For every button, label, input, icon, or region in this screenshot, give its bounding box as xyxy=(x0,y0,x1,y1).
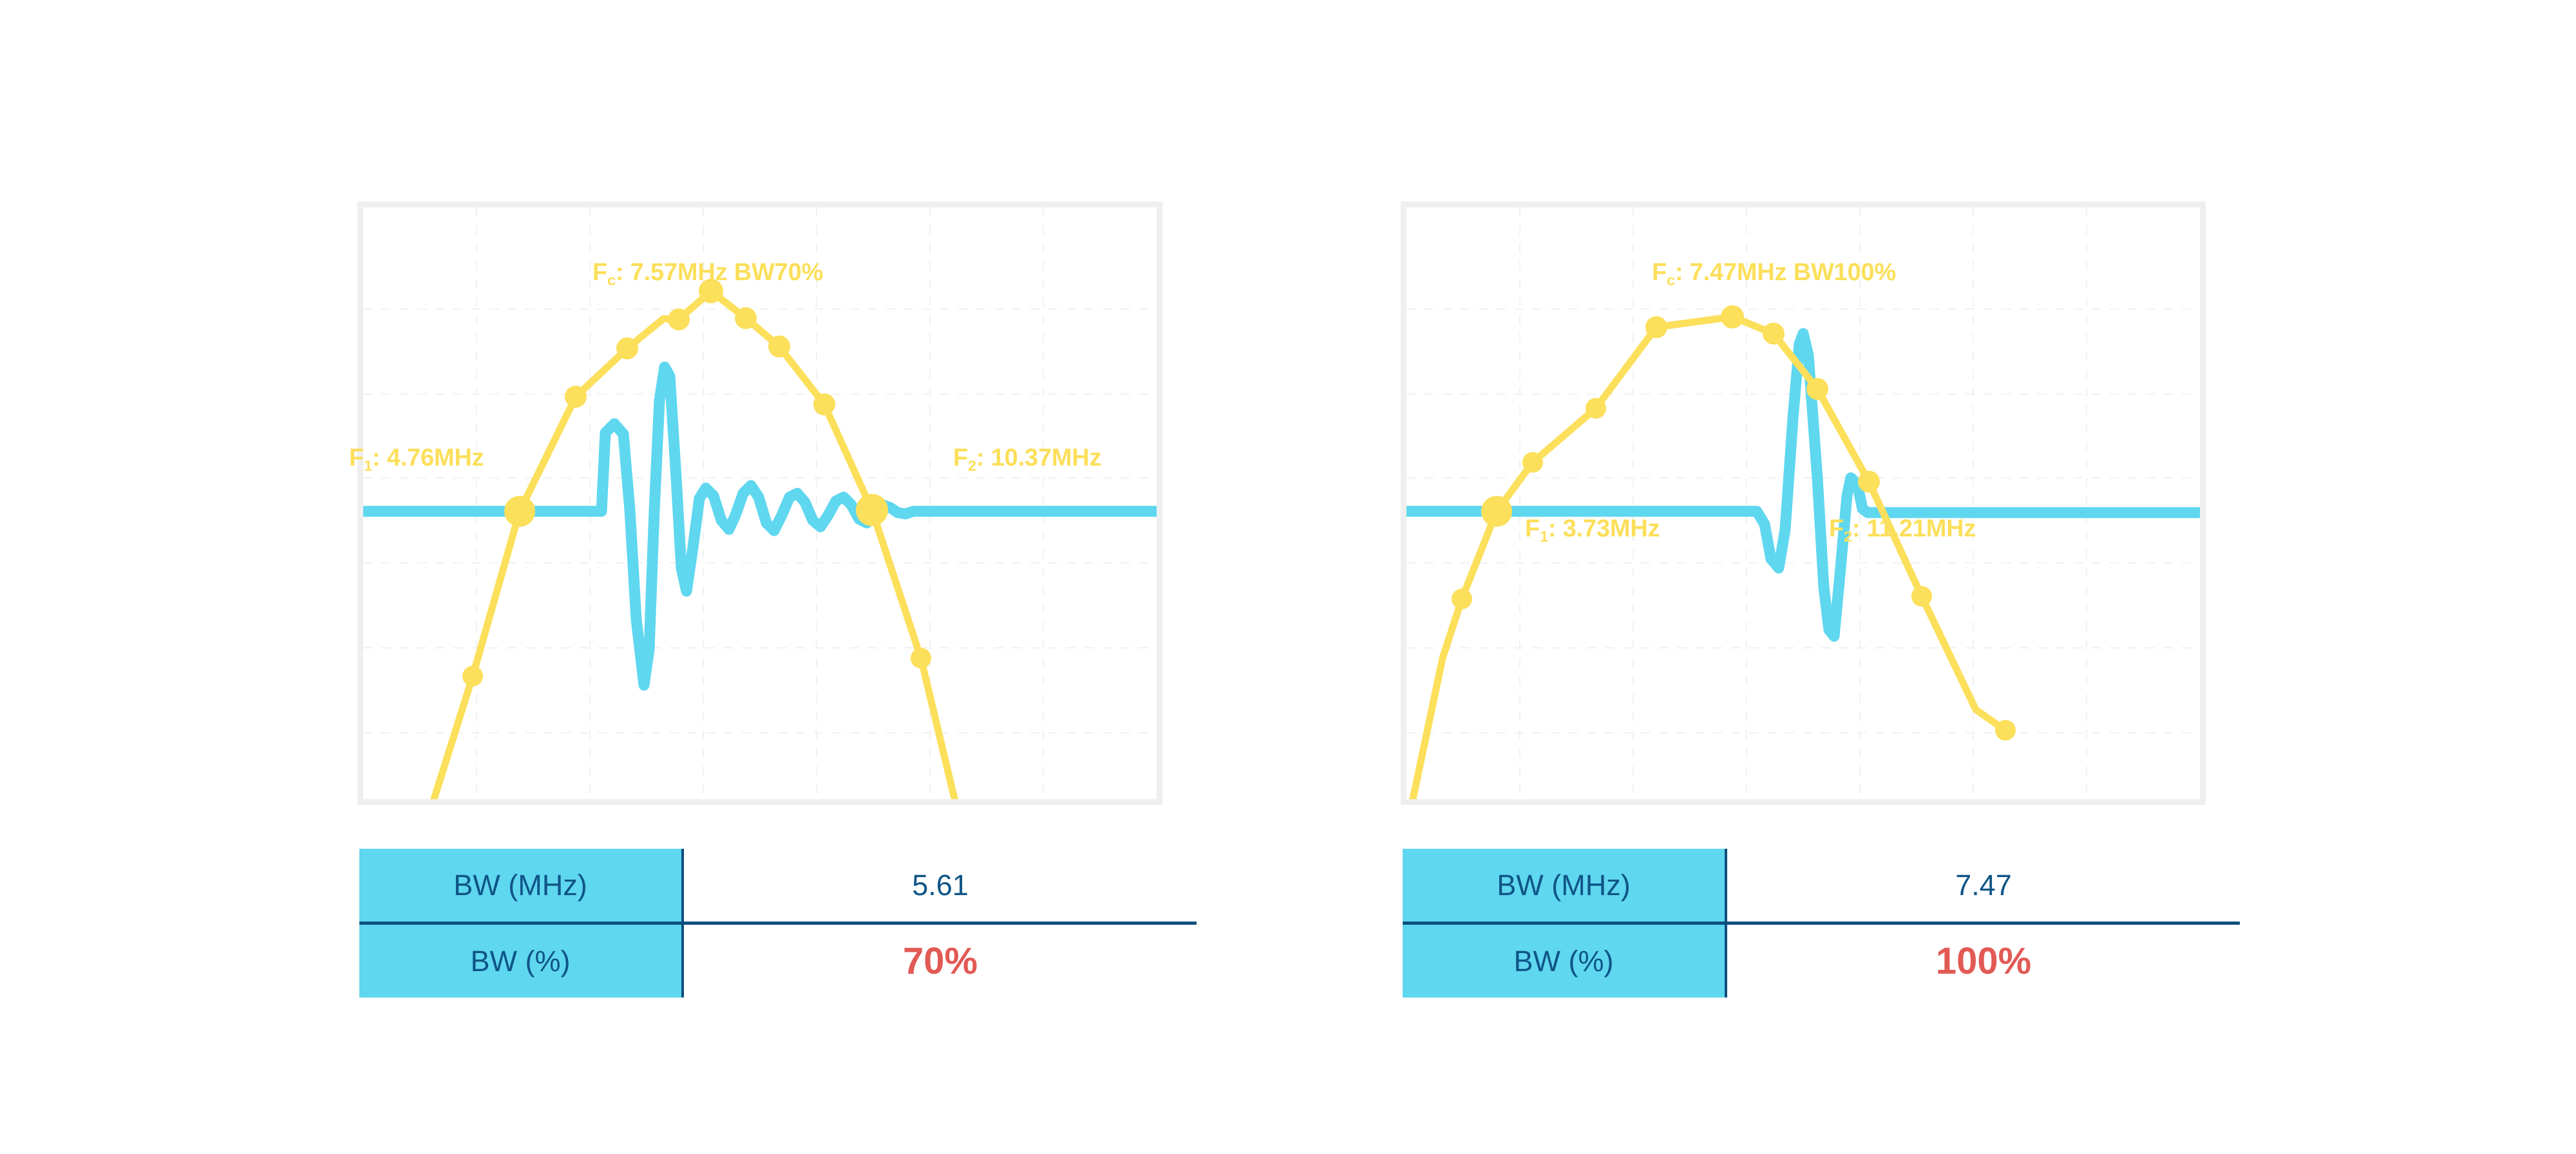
table-value-bw-percent: 100% xyxy=(1726,923,2240,998)
fc-text: : 7.57MHz BW70% xyxy=(616,259,823,286)
table-value-bw-mhz: 5.61 xyxy=(683,849,1197,923)
f1-text: : 4.76MHz xyxy=(372,444,484,471)
table-header-bw-mhz: BW (MHz) xyxy=(1403,849,1726,923)
gridlines xyxy=(1406,207,2200,799)
table-header-bw-mhz: BW (MHz) xyxy=(359,849,683,923)
plot-area-bw100 xyxy=(1406,207,2200,799)
fc-prefix: F xyxy=(1652,259,1667,286)
spectrum-curve-bw100 xyxy=(1412,317,2005,799)
plot-area-bw70 xyxy=(363,207,1157,799)
table-value-bw-percent: 70% xyxy=(683,923,1197,998)
fc-subscript: c xyxy=(1667,272,1675,288)
f2-subscript: 2 xyxy=(968,457,976,474)
table-header-bw-percent: BW (%) xyxy=(359,923,683,998)
table-header-bw-percent: BW (%) xyxy=(1403,923,1726,998)
table-value-bw-mhz: 7.47 xyxy=(1726,849,2240,923)
f1-text: : 3.73MHz xyxy=(1548,515,1660,542)
fc-subscript: c xyxy=(607,272,616,288)
f2-text: : 10.37MHz xyxy=(976,444,1101,471)
table-row: BW (%) 70% xyxy=(359,923,1197,998)
table-row: BW (MHz) 5.61 xyxy=(359,849,1197,923)
table-row: BW (MHz) 7.47 xyxy=(1403,849,2240,923)
bandwidth-table-bw70: BW (MHz) 5.61 BW (%) 70% xyxy=(359,849,1197,998)
chart-frame-bw100 xyxy=(1401,202,2206,805)
bandwidth-table-bw100: BW (MHz) 7.47 BW (%) 100% xyxy=(1403,849,2240,998)
f2-prefix: F xyxy=(1829,515,1844,542)
f1-prefix: F xyxy=(1525,515,1540,542)
f2-prefix: F xyxy=(953,444,968,471)
pulse-waveform-bw100 xyxy=(1406,334,2200,636)
f1-subscript: 1 xyxy=(364,457,372,474)
annotation-center-frequency-bw100: Fc: 7.47MHz BW100% xyxy=(1652,259,1896,287)
annotation-lower-frequency-bw100: F1: 3.73MHz xyxy=(1525,515,1660,543)
panel-bw70: Fc: 7.57MHz BW70% F1: 4.76MHz F2: 10.37M… xyxy=(309,0,1249,1154)
f1-prefix: F xyxy=(349,444,364,471)
f1-subscript: 1 xyxy=(1540,528,1548,545)
fc-text: : 7.47MHz BW100% xyxy=(1675,259,1896,286)
spectrum-plot-bw70 xyxy=(363,207,1157,799)
spectrum-plot-bw100 xyxy=(1406,207,2200,799)
table-row: BW (%) 100% xyxy=(1403,923,2240,998)
chart-frame-bw70 xyxy=(357,202,1162,805)
annotation-center-frequency-bw70: Fc: 7.57MHz BW70% xyxy=(592,259,823,287)
f2-text: : 11.21MHz xyxy=(1852,515,1976,542)
f2-subscript: 2 xyxy=(1844,528,1852,545)
annotation-upper-frequency-bw100: F2: 11.21MHz xyxy=(1829,515,1976,543)
annotation-lower-frequency-bw70: F1: 4.76MHz xyxy=(349,444,484,472)
figure-root: Fc: 7.57MHz BW70% F1: 4.76MHz F2: 10.37M… xyxy=(0,0,2576,1154)
annotation-upper-frequency-bw70: F2: 10.37MHz xyxy=(953,444,1101,472)
panel-bw100: Fc: 7.47MHz BW100% F1: 3.73MHz F2: 11.21… xyxy=(1352,0,2293,1154)
fc-prefix: F xyxy=(592,259,607,286)
